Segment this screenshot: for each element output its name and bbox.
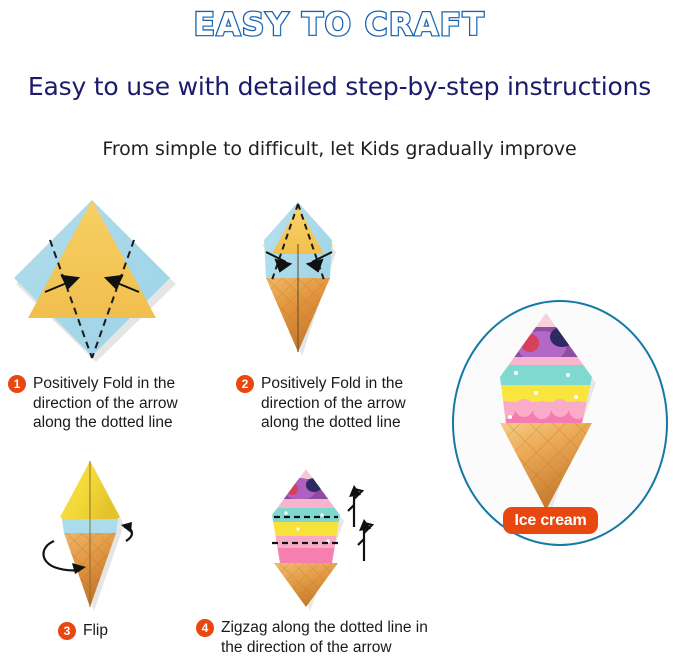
step-1-text: Positively Fold in the direction of the … [33,374,178,433]
kite-fold-diagram-icon [228,192,428,367]
step-4: 4 Zigzag along the dotted line in the di… [228,455,443,615]
finished-icecream-icon [480,305,640,520]
step-2: 2 Positively Fold in the direction of th… [228,192,428,367]
step-3-badge: 3 [58,622,76,640]
result-figure [480,305,640,520]
step-4-caption: 4 Zigzag along the dotted line in the di… [196,618,486,657]
zigzag-fold-diagram-icon [228,455,443,615]
step-2-badge: 2 [236,375,254,393]
step-4-figure [228,455,443,615]
flip-diagram-icon [20,455,210,615]
step-2-caption: 2 Positively Fold in the direction of th… [236,374,426,433]
page-tagline: From simple to difficult, let Kids gradu… [0,138,679,160]
step-4-text: Zigzag along the dotted line in the dire… [221,618,428,657]
step-1-badge: 1 [8,375,26,393]
step-3-figure [20,455,210,615]
step-4-badge: 4 [196,619,214,637]
step-3-caption: 3 Flip [58,621,198,641]
diamond-fold-diagram-icon [0,192,200,367]
page-subtitle: Easy to use with detailed step-by-step i… [0,72,679,101]
result-label-badge: Ice cream [503,507,598,534]
step-3-text: Flip [83,621,108,641]
page-title: EASY TO CRAFT [0,6,679,44]
step-1-figure [0,192,200,367]
step-1-caption: 1 Positively Fold in the direction of th… [8,374,198,433]
step-3: 3 Flip [20,455,210,615]
step-1: 1 Positively Fold in the direction of th… [0,192,200,367]
step-2-figure [228,192,428,367]
step-2-text: Positively Fold in the direction of the … [261,374,406,433]
